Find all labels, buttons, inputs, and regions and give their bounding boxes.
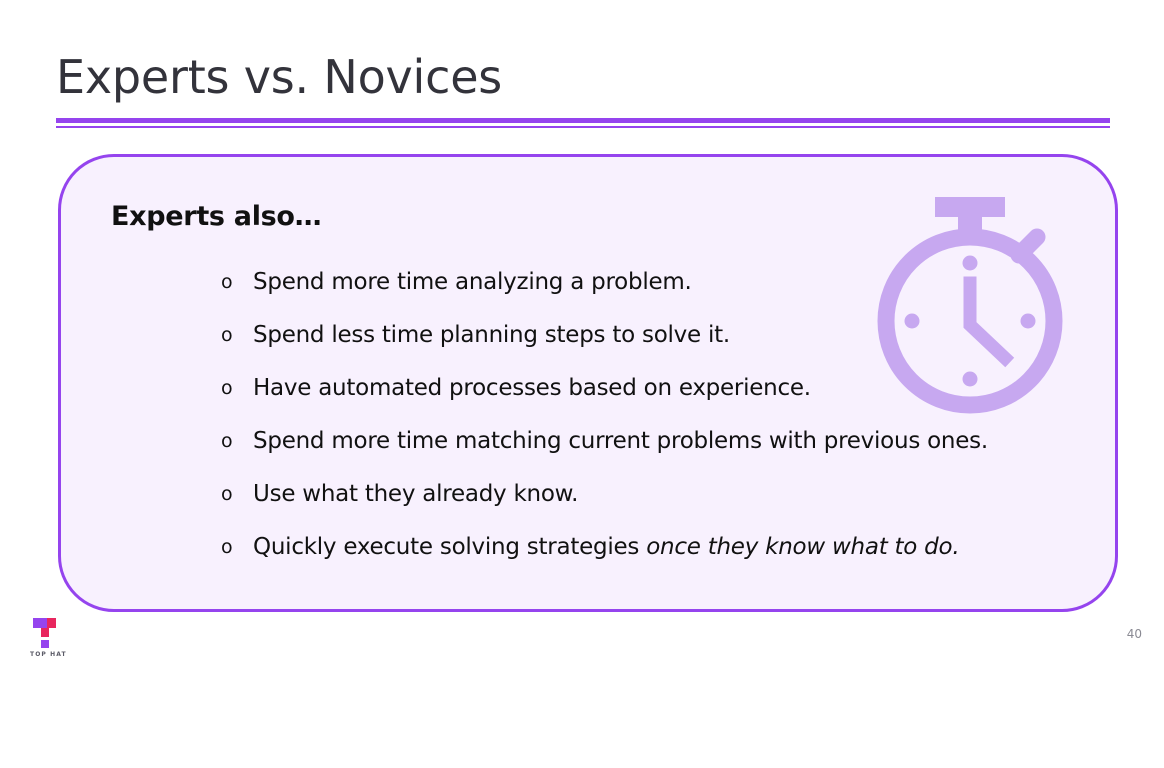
brand-logo-mark [33,618,63,648]
list-item: o Spend less time planning steps to solv… [221,320,1101,373]
list-item-text: Use what they already know. [253,479,1101,509]
logo-block-top-left [33,618,47,628]
bullet-marker-icon: o [221,532,253,562]
list-item-text: Have automated processes based on experi… [253,373,1101,403]
page-number: 40 [1127,627,1142,641]
list-item-text: Quickly execute solving strategies once … [253,532,1101,562]
title-divider-thin-bar [56,126,1110,128]
list-item: o Use what they already know. [221,479,1101,532]
bullet-marker-icon: o [221,267,253,297]
bullet-list: o Spend more time analyzing a problem. o… [221,267,1101,585]
bullet-marker-icon: o [221,426,253,456]
list-item: o Spend more time matching current probl… [221,426,1101,479]
list-item: o Quickly execute solving strategies onc… [221,532,1101,585]
logo-block-dot [41,640,49,648]
logo-block-top-right [47,618,56,628]
list-item-text: Spend less time planning steps to solve … [253,320,1101,350]
content-card: Experts also… [58,154,1118,612]
list-item: o Spend more time analyzing a problem. [221,267,1101,320]
list-item: o Have automated processes based on expe… [221,373,1101,426]
brand-logo: TOP HAT [30,618,72,666]
bullet-marker-icon: o [221,320,253,350]
bullet-marker-icon: o [221,373,253,403]
brand-wordmark: TOP HAT [30,651,72,658]
title-divider [56,118,1110,128]
title-divider-thick-bar [56,118,1110,123]
page-title: Experts vs. Novices [56,52,502,103]
card-heading: Experts also… [111,201,321,232]
bullet-marker-icon: o [221,479,253,509]
list-item-text: Spend more time matching current problem… [253,426,1101,456]
list-item-text: Spend more time analyzing a problem. [253,267,1101,297]
logo-block-stem [41,628,49,637]
slide-canvas: Experts vs. Novices Experts also… [0,0,1164,768]
